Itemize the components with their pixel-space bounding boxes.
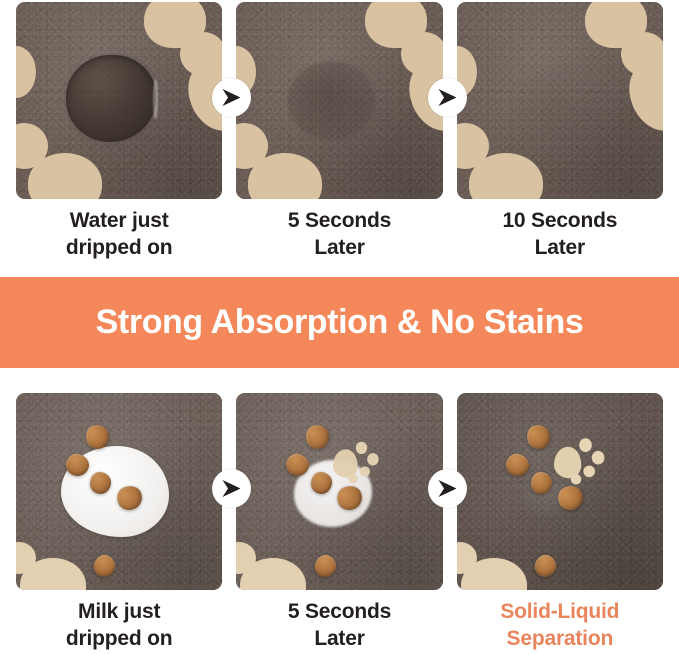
caption-milk-fresh: Milk just dripped on	[16, 599, 222, 652]
caption-water-fresh: Water just dripped on	[16, 208, 222, 261]
photo-panel-milk-fresh	[16, 393, 222, 590]
bottom-photo-row	[16, 393, 663, 590]
caption-milk-5s: 5 Seconds Later	[236, 599, 442, 652]
caption-water-5s: 5 Seconds Later	[236, 208, 442, 261]
paw-toe	[579, 439, 592, 453]
paw-toe	[591, 451, 604, 465]
photo-panel-milk-absorbed	[457, 393, 663, 590]
damp-spot	[288, 61, 375, 140]
caption-solid-liquid-separation: Solid-Liquid Separation	[457, 599, 663, 652]
top-photo-row	[16, 2, 663, 199]
photo-panel-water-fresh	[16, 2, 222, 199]
arrow-right-icon	[428, 469, 467, 508]
photo-panel-water-10s	[457, 2, 663, 199]
headline-text: Strong Absorption & No Stains	[96, 303, 584, 342]
water-puddle	[66, 55, 157, 142]
arrow-right-icon	[212, 78, 251, 117]
bottom-caption-row: Milk just dripped on 5 Seconds Later Sol…	[16, 599, 663, 652]
arrow-right-icon	[212, 469, 251, 508]
paw-toe	[570, 474, 581, 485]
paw-toe	[583, 466, 595, 478]
dry-residue	[510, 65, 593, 140]
top-caption-row: Water just dripped on 5 Seconds Later 10…	[16, 208, 663, 261]
infographic-page: Water just dripped on 5 Seconds Later 10…	[0, 0, 679, 655]
caption-water-10s: 10 Seconds Later	[457, 208, 663, 261]
arrow-right-icon	[428, 78, 467, 117]
headline-banner: Strong Absorption & No Stains	[0, 277, 679, 368]
photo-panel-water-5s	[236, 2, 442, 199]
photo-panel-milk-5s	[236, 393, 442, 590]
